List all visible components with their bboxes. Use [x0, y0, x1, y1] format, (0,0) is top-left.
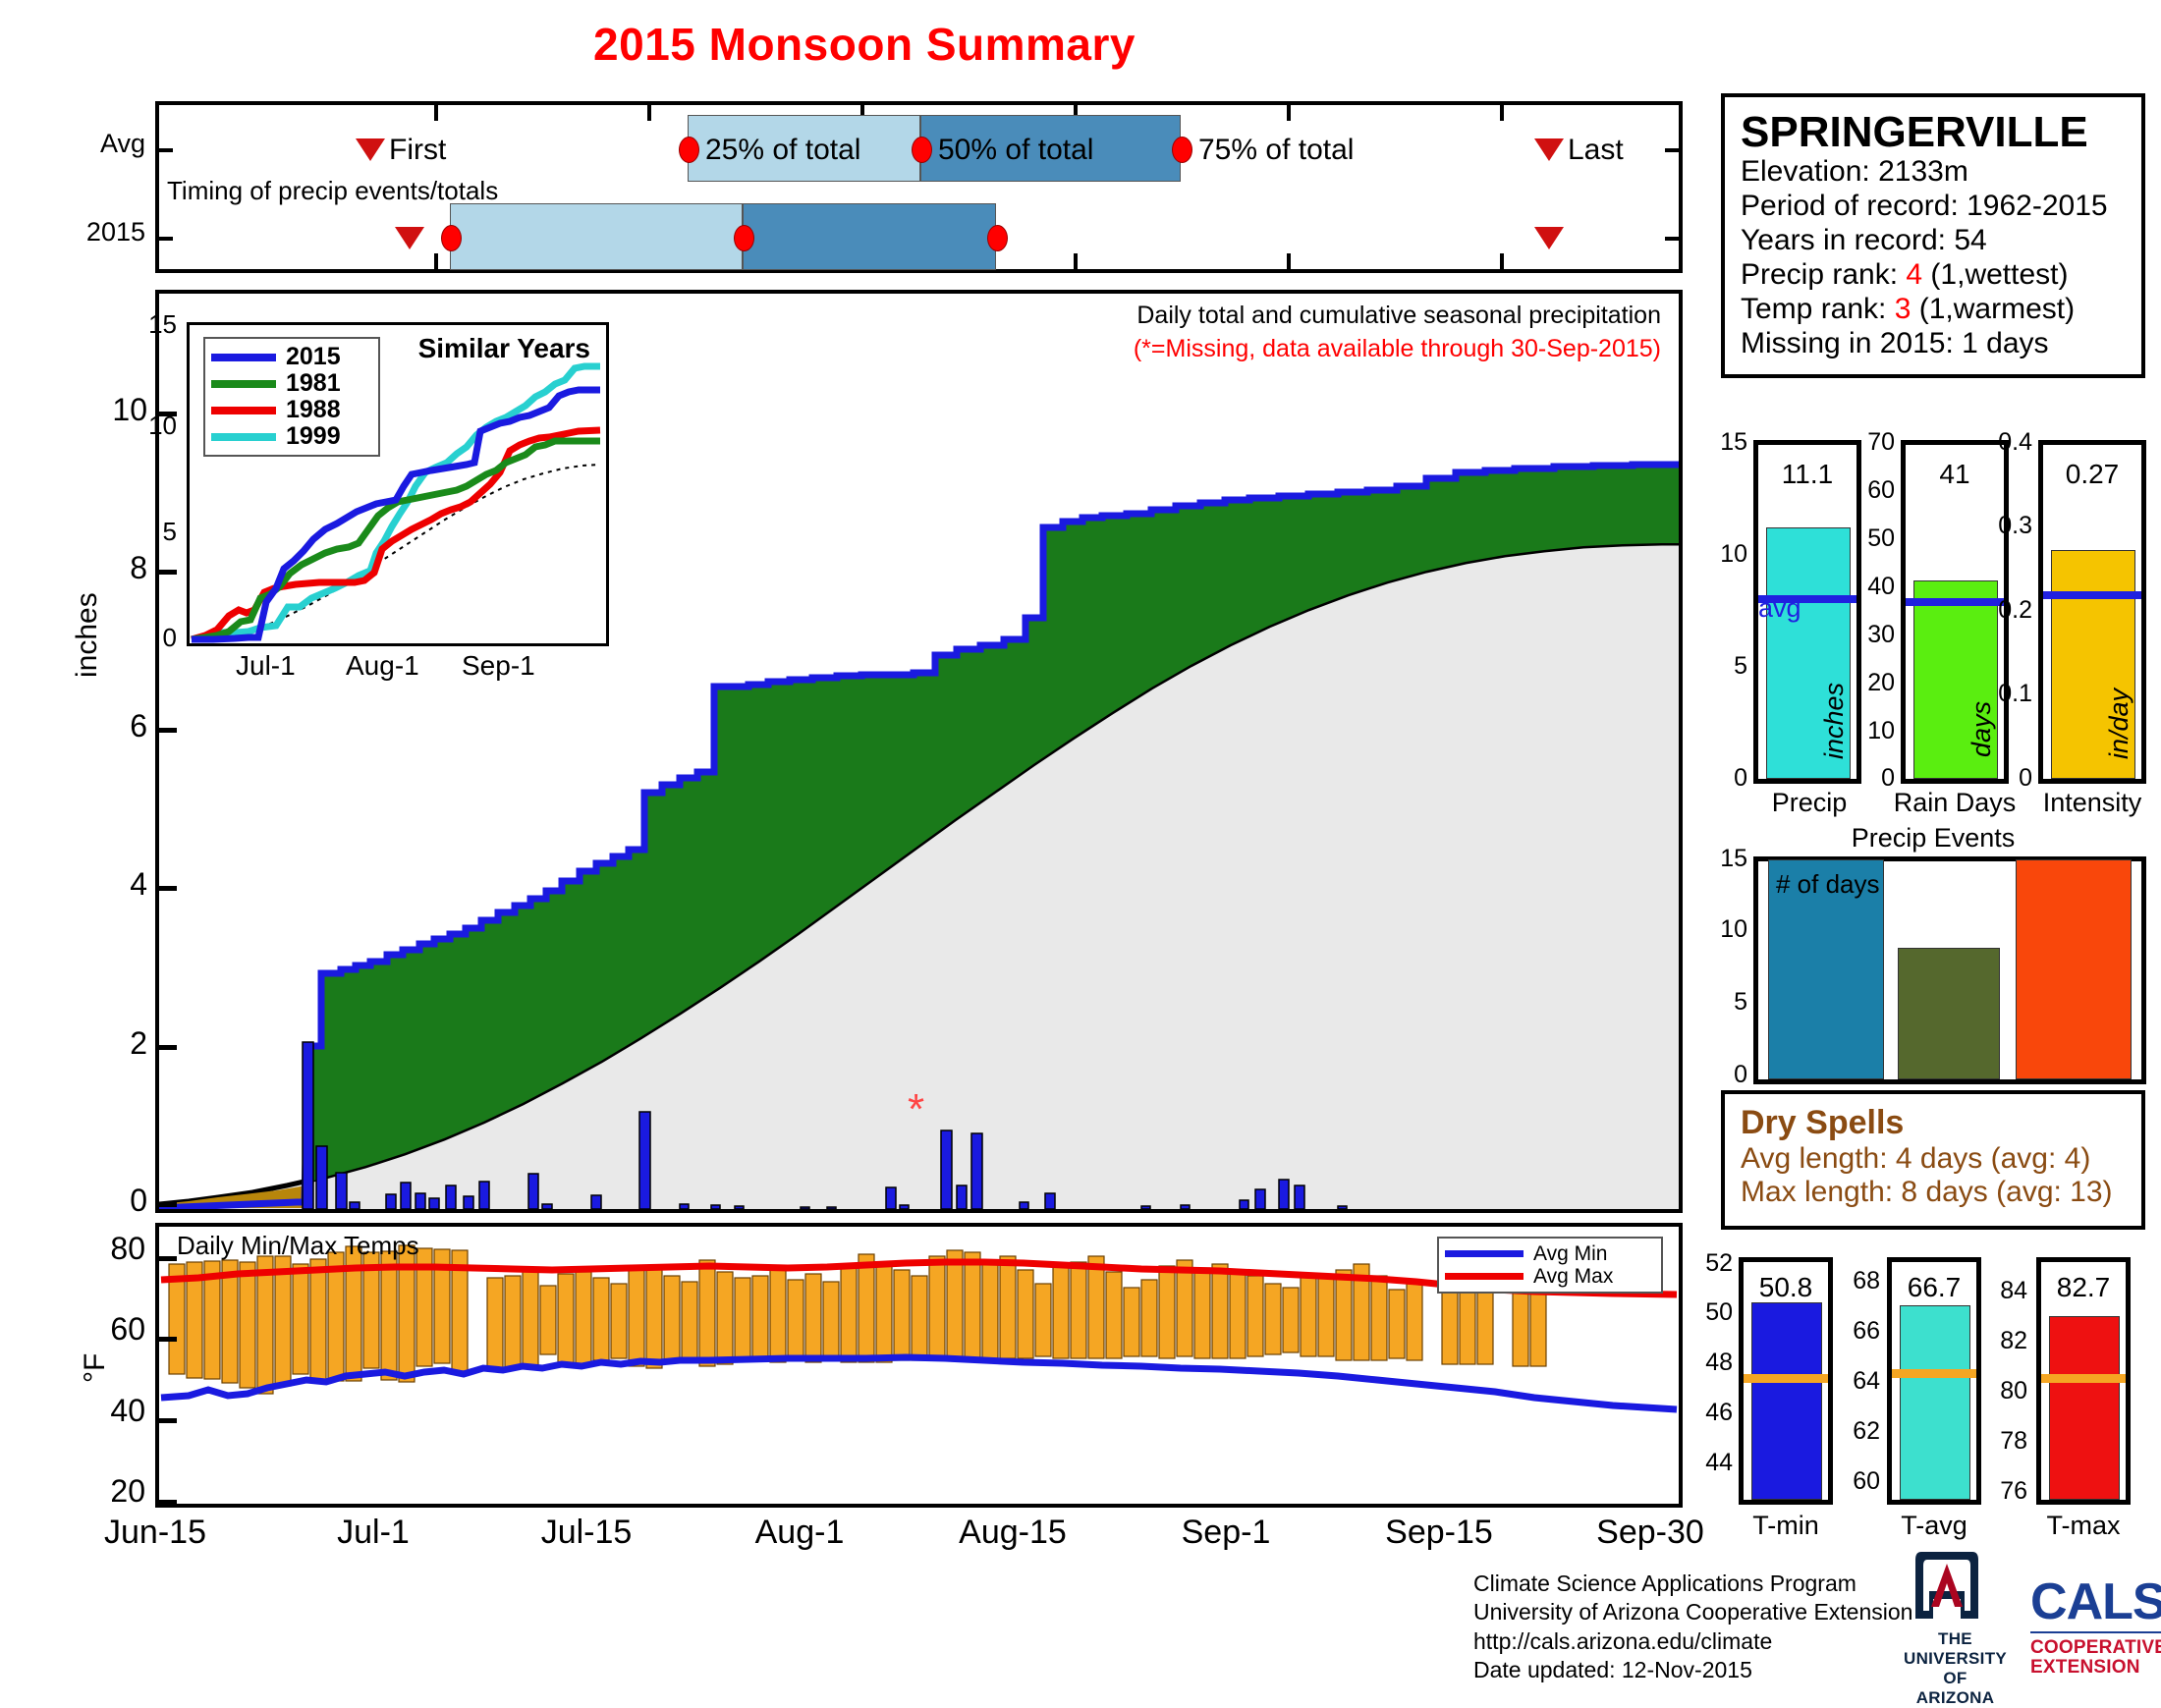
- cals-logo-text: CALS: [2030, 1579, 2161, 1625]
- station-name: SPRINGERVILLE: [1741, 111, 2141, 154]
- avg-p50-marker: [912, 137, 932, 163]
- precip-events-bar-heavy: [2016, 859, 2132, 1079]
- temp-rank-value: 3: [1895, 293, 1912, 325]
- tmin-tick-46: 46: [1686, 1399, 1733, 1427]
- precip-events-title-wrap: Precip Events: [1721, 823, 2145, 854]
- precip-summary-unit: inches: [1819, 683, 1850, 759]
- precip-events-title: Precip Events: [1721, 823, 2145, 854]
- precip-rank-prefix: Precip rank:: [1741, 258, 1906, 291]
- avg-p75-marker: [1172, 137, 1192, 163]
- intensity-summary-bar-box: 0.27 in/day: [2038, 440, 2146, 784]
- precip-events-box: # of days: [1753, 856, 2146, 1084]
- xtick-aug1: Aug-1: [721, 1514, 878, 1552]
- dry-spells-box: Dry Spells Avg length: 4 days (avg: 4) M…: [1721, 1090, 2145, 1230]
- footer-line-3[interactable]: http://cals.arizona.edu/climate: [1473, 1627, 1912, 1656]
- temp-ytick-20: 20: [86, 1473, 145, 1510]
- inset-legend: 2015 1981 1988 1999: [203, 337, 380, 457]
- legend-swatch-avg-min: [1445, 1250, 1524, 1257]
- temp-legend: Avg Min Avg Max: [1437, 1237, 1663, 1294]
- dry-spells-max: Max length: 8 days (avg: 13): [1741, 1176, 2141, 1209]
- missing-day-asterisk: *: [908, 1085, 924, 1133]
- avg-p25-marker: [679, 137, 699, 163]
- station-period: Period of record: 1962-2015: [1741, 189, 2141, 223]
- precip-events-legend-label: # of days: [1776, 869, 1880, 900]
- xtick-sep30: Sep-30: [1572, 1514, 1729, 1552]
- inset-ytick-10: 10: [134, 411, 177, 441]
- xtick-sep15: Sep-15: [1360, 1514, 1518, 1552]
- legend-label-2015: 2015: [286, 343, 341, 371]
- temp-panel-title: Daily Min/Max Temps: [177, 1231, 419, 1261]
- footer-credits: Climate Science Applications Program Uni…: [1473, 1570, 1912, 1685]
- intensity-summary-avg-line: [2043, 591, 2141, 599]
- precip-header-line1: Daily total and cumulative seasonal prec…: [1136, 302, 1661, 330]
- xtick-jun15: Jun-15: [77, 1514, 234, 1552]
- tavg-tick-64: 64: [1829, 1367, 1880, 1396]
- temp-rank-suffix: (1,warmest): [1911, 293, 2075, 325]
- station-temp-rank: Temp rank: 3 (1,warmest): [1741, 292, 2141, 326]
- precip-summary-value: 11.1: [1758, 459, 1856, 490]
- avg-label: avg: [1758, 593, 1801, 624]
- intensity-summary-label: Intensity: [2009, 788, 2161, 818]
- tmin-tick-44: 44: [1686, 1449, 1733, 1477]
- raindays-tick-20: 20: [1852, 669, 1895, 697]
- xtick-jul15: Jul-15: [508, 1514, 665, 1552]
- precip-summary-tick-15: 15: [1704, 428, 1747, 457]
- tmin-avg-line: [1744, 1374, 1828, 1383]
- station-info-box: SPRINGERVILLE Elevation: 2133m Period of…: [1721, 93, 2145, 378]
- ua-logo-line1: THE UNIVERSITY: [1904, 1629, 2007, 1669]
- raindays-tick-50: 50: [1852, 524, 1895, 553]
- pe-tick-5: 5: [1704, 988, 1747, 1017]
- precip-ytick-0: 0: [88, 1183, 147, 1219]
- intensity-tick-04: 0.4: [1967, 428, 2032, 457]
- tmax-tick-80: 80: [1976, 1377, 2027, 1405]
- pe-tick-10: 10: [1704, 915, 1747, 944]
- timing-panel: 25% of total 50% of total 75% of total F…: [155, 101, 1683, 273]
- legend-label-avg-min: Avg Min: [1533, 1242, 1607, 1266]
- cals-rule: [2030, 1631, 2161, 1633]
- tmin-tick-50: 50: [1686, 1298, 1733, 1327]
- legend-label-1988: 1988: [286, 396, 341, 424]
- raindays-tick-30: 30: [1852, 621, 1895, 649]
- raindays-tick-10: 10: [1852, 717, 1895, 745]
- tavg-tick-60: 60: [1829, 1467, 1880, 1496]
- station-precip-rank: Precip rank: 4 (1,wettest): [1741, 257, 2141, 292]
- avg-first-label: First: [389, 134, 446, 167]
- raindays-tick-60: 60: [1852, 476, 1895, 505]
- precip-ytick-6: 6: [88, 708, 147, 744]
- precip-summary-tick-10: 10: [1704, 540, 1747, 569]
- y2015-quartile-bar-50-75: [743, 203, 996, 270]
- footer-line-2: University of Arizona Cooperative Extens…: [1473, 1598, 1912, 1626]
- tmax-value: 82.7: [2041, 1272, 2126, 1303]
- precip-y-axis-label: inches: [71, 592, 104, 678]
- inset-legend-row-1999: 1999: [211, 423, 372, 450]
- tmin-tick-52: 52: [1686, 1249, 1733, 1278]
- inset-ytick-15: 15: [134, 309, 177, 340]
- intensity-summary-value: 0.27: [2043, 459, 2141, 490]
- station-missing: Missing in 2015: 1 days: [1741, 326, 2141, 360]
- cals-sub-line2: EXTENSION: [2030, 1658, 2161, 1678]
- raindays-summary-value: 41: [1906, 459, 2004, 490]
- raindays-tick-40: 40: [1852, 573, 1895, 601]
- page-title: 2015 Monsoon Summary: [0, 18, 1729, 71]
- precip-ytick-2: 2: [88, 1025, 147, 1062]
- legend-swatch-2015: [211, 354, 276, 361]
- y2015-p75-marker: [987, 225, 1008, 251]
- legend-swatch-1999: [211, 433, 276, 441]
- precip-ytick-4: 4: [88, 866, 147, 903]
- station-elevation: Elevation: 2133m: [1741, 154, 2141, 189]
- inset-legend-row-2015: 2015: [211, 344, 372, 370]
- pe-tick-0: 0: [1704, 1061, 1747, 1089]
- y2015-quartile-bar-25-50: [450, 203, 743, 270]
- arizona-a-icon: [1904, 1550, 1990, 1626]
- ua-logo-line2: OF ARIZONA: [1904, 1669, 2007, 1708]
- temp-ytick-40: 40: [86, 1393, 145, 1429]
- tmin-value: 50.8: [1744, 1272, 1828, 1303]
- similar-years-inset: 2015 1981 1988 1999 Similar Years: [187, 322, 609, 646]
- temp-ytick-60: 60: [86, 1311, 145, 1348]
- y2015-p25-marker: [441, 225, 462, 251]
- inset-legend-row-1981: 1981: [211, 370, 372, 397]
- tavg-label: T-avg: [1865, 1511, 2003, 1541]
- temp-ytick-80: 80: [86, 1231, 145, 1267]
- avg-last-marker: [1534, 138, 1564, 161]
- tavg-fill: [1900, 1305, 1970, 1500]
- timing-row-label-avg: Avg: [57, 129, 145, 159]
- tmax-tick-78: 78: [1976, 1427, 2027, 1456]
- raindays-summary-unit: days: [1967, 701, 1997, 757]
- precip-rank-suffix: (1,wettest): [1922, 258, 2068, 291]
- tavg-tick-62: 62: [1829, 1417, 1880, 1446]
- tmin-fill: [1751, 1302, 1822, 1500]
- precip-events-bar-moderate: [1898, 948, 2000, 1079]
- inset-legend-row-1988: 1988: [211, 397, 372, 423]
- avg-p50-label: 50% of total: [938, 134, 1093, 167]
- station-years: Years in record: 54: [1741, 223, 2141, 257]
- precip-ytick-8: 8: [88, 550, 147, 586]
- tmax-fill: [2049, 1316, 2120, 1500]
- timing-caption: Timing of precip events/totals: [167, 176, 498, 206]
- avg-first-marker: [356, 138, 385, 161]
- xtick-sep1: Sep-1: [1147, 1514, 1304, 1552]
- raindays-tick-70: 70: [1852, 428, 1895, 457]
- temp-panel: Daily Min/Max Temps: [155, 1223, 1683, 1508]
- avg-p75-label: 75% of total: [1198, 134, 1354, 167]
- y2015-p50-marker: [734, 225, 754, 251]
- intensity-tick-03: 0.3: [1967, 512, 2032, 540]
- tmax-label: T-max: [2015, 1511, 2152, 1541]
- intensity-tick-02: 0.2: [1967, 596, 2032, 625]
- precip-summary-tick-5: 5: [1704, 652, 1747, 681]
- tmax-tick-84: 84: [1976, 1277, 2027, 1305]
- tavg-avg-line: [1892, 1369, 1976, 1378]
- inset-title: Similar Years: [418, 333, 590, 364]
- temp-legend-row-avgmax: Avg Max: [1445, 1265, 1655, 1288]
- legend-label-avg-max: Avg Max: [1533, 1265, 1613, 1289]
- legend-label-1981: 1981: [286, 369, 341, 398]
- precip-rank-value: 4: [1906, 258, 1922, 291]
- y2015-first-marker: [395, 227, 424, 249]
- tmax-tick-76: 76: [1976, 1477, 2027, 1506]
- legend-label-1999: 1999: [286, 422, 341, 451]
- tavg-tick-66: 66: [1829, 1317, 1880, 1346]
- intensity-summary-unit: in/day: [2104, 689, 2134, 759]
- pe-tick-15: 15: [1704, 845, 1747, 873]
- tmin-label: T-min: [1717, 1511, 1855, 1541]
- tmin-summary-box: 50.8: [1739, 1257, 1833, 1505]
- inset-xtick-jul1: Jul-1: [236, 650, 296, 682]
- precip-header-line2: (*=Missing, data available through 30-Se…: [1134, 335, 1661, 363]
- tmin-tick-48: 48: [1686, 1349, 1733, 1377]
- cals-sub-line1: COOPERATIVE: [2030, 1638, 2161, 1658]
- temp-y-axis-label: °F: [79, 1353, 112, 1383]
- avg-last-label: Last: [1568, 134, 1624, 167]
- xtick-aug15: Aug-15: [934, 1514, 1091, 1552]
- intensity-tick-01: 0.1: [1967, 680, 2032, 708]
- inset-xtick-aug1: Aug-1: [346, 650, 419, 682]
- tavg-summary-box: 66.7: [1887, 1257, 1981, 1505]
- footer-line-1: Climate Science Applications Program: [1473, 1570, 1912, 1598]
- inset-xtick-sep1: Sep-1: [462, 650, 535, 682]
- timing-row-label-2015: 2015: [37, 217, 145, 248]
- tavg-tick-68: 68: [1829, 1267, 1880, 1295]
- legend-swatch-1988: [211, 407, 276, 414]
- temp-legend-row-avgmin: Avg Min: [1445, 1242, 1655, 1265]
- tmax-tick-82: 82: [1976, 1327, 2027, 1355]
- dry-spells-avg: Avg length: 4 days (avg: 4): [1741, 1142, 2141, 1176]
- xtick-jul1: Jul-1: [295, 1514, 452, 1552]
- tmax-summary-box: 82.7: [2036, 1257, 2131, 1505]
- inset-ytick-0: 0: [134, 623, 177, 653]
- legend-swatch-avg-max: [1445, 1273, 1524, 1280]
- temp-rank-prefix: Temp rank:: [1741, 293, 1895, 325]
- dry-spells-title: Dry Spells: [1741, 1104, 2141, 1142]
- tavg-value: 66.7: [1892, 1272, 1976, 1303]
- footer-line-4: Date updated: 12-Nov-2015: [1473, 1656, 1912, 1684]
- y2015-last-marker: [1534, 227, 1564, 249]
- tmax-avg-line: [2041, 1374, 2126, 1383]
- avg-p25-label: 25% of total: [705, 134, 860, 167]
- legend-swatch-1981: [211, 380, 276, 388]
- ua-logo: THE UNIVERSITY OF ARIZONA CALS COOPERATI…: [1904, 1550, 2149, 1708]
- inset-ytick-5: 5: [134, 517, 177, 547]
